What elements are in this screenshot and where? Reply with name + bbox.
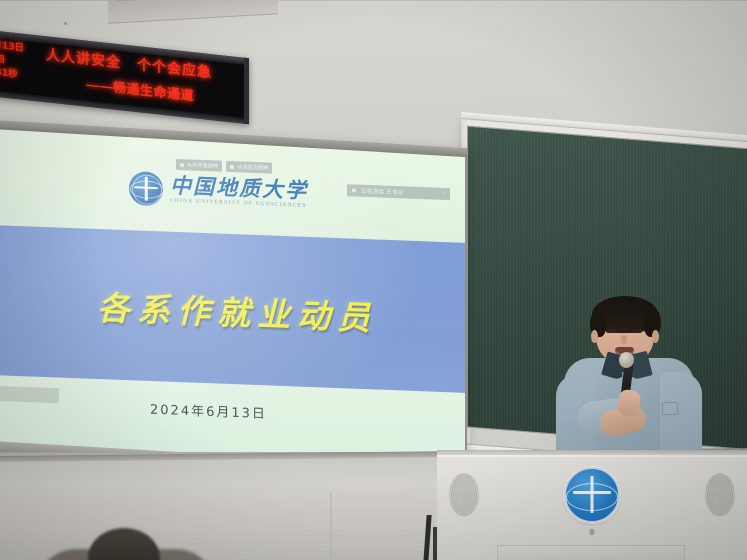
podium-front-panel	[497, 545, 685, 560]
lecture-podium	[437, 455, 747, 560]
start-from-current-button[interactable]: 从当前页放映	[226, 161, 272, 174]
start-from-beginning-button[interactable]: 从头开始放映	[176, 159, 222, 172]
podium-fastener	[590, 529, 595, 535]
lecturer-eye-right	[632, 329, 642, 333]
user-icon	[352, 188, 356, 192]
lower-wall-joint	[330, 492, 332, 560]
lecturer-ear-left	[591, 330, 598, 343]
led-slogan-a: 人人讲安全	[46, 46, 121, 70]
podium-speaker-right	[705, 473, 735, 517]
led-datetime-column: 6月13日 期四 分31秒	[0, 38, 44, 85]
university-logo: 中国地质大学 CHINA UNIVERSITY OF GEOSCIENCES	[129, 171, 308, 212]
presentation-slide[interactable]: 从头开始放映 从当前页放映 正在讲话 王书记 ×	[0, 129, 465, 469]
close-icon[interactable]: ×	[442, 191, 445, 197]
ceiling-tile	[108, 0, 278, 24]
lecturer-nose	[621, 335, 627, 344]
lecturer	[556, 296, 702, 468]
wall-fixture-dot	[64, 22, 67, 25]
podium-speaker-left	[449, 473, 479, 517]
lecturer-eyebrow-left	[605, 324, 617, 327]
start-from-current-label: 从当前页放映	[237, 163, 268, 172]
lecturer-ear-right	[652, 330, 659, 343]
lecturer-shirt-pocket	[662, 402, 678, 415]
start-from-beginning-label: 从头开始放映	[187, 161, 218, 170]
slide-edge-artifact	[0, 386, 59, 403]
speaking-now-label: 正在讲话 王书记	[361, 187, 403, 197]
play-icon	[180, 163, 184, 167]
podium-leg-left-2	[433, 527, 437, 560]
university-logo-text: 中国地质大学 CHINA UNIVERSITY OF GEOSCIENCES	[170, 175, 308, 210]
lecturer-eye-left	[606, 329, 616, 333]
projection-screen: 从头开始放映 从当前页放映 正在讲话 王书记 ×	[0, 120, 467, 486]
led-slogan-b: 个个会应急	[137, 56, 212, 80]
lecturer-eyebrow-right	[631, 324, 643, 327]
lecturer-hair	[592, 296, 658, 333]
university-logo-icon	[129, 171, 163, 206]
university-emblem-icon	[564, 467, 620, 523]
classroom-scene: 从头开始放映 从当前页放映 正在讲话 王书记 ×	[0, 0, 747, 560]
play-current-icon	[230, 165, 234, 169]
